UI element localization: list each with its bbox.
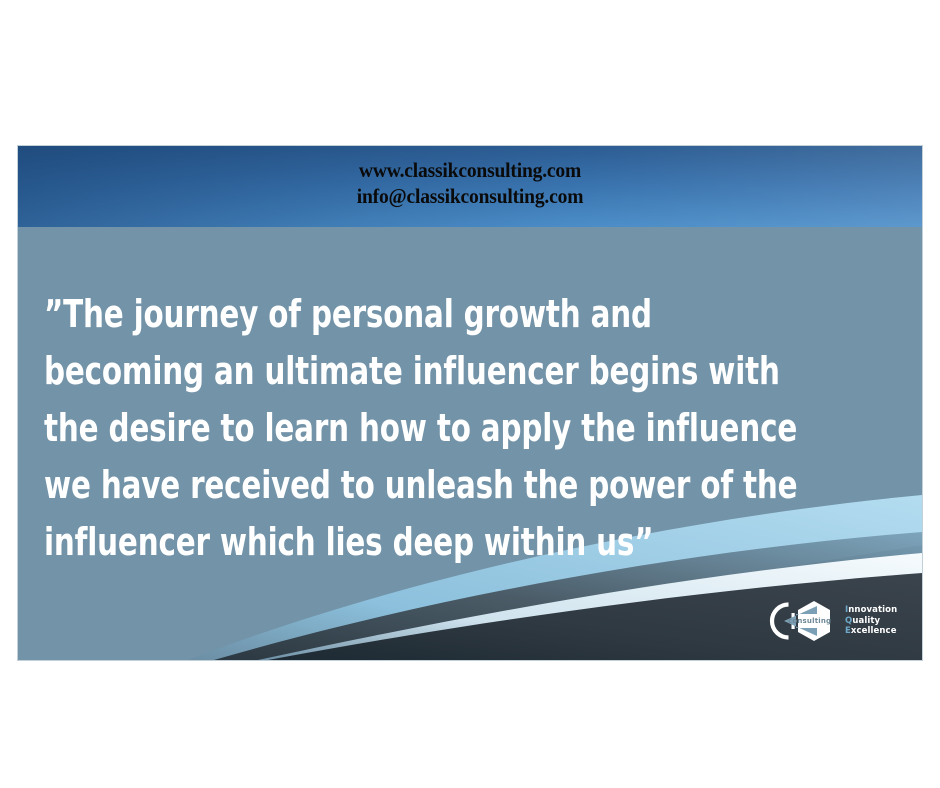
contact-header-text: www.classikconsulting.com info@classikco… — [18, 158, 922, 209]
quote-line-5: influencer which lies deep within us” — [44, 514, 741, 571]
classik-consulting-logo[interactable]: consulting Innovation Quality Excellence — [762, 593, 914, 649]
tagline-excellence-rest: xcellence — [851, 626, 897, 636]
tagline-innovation: Innovation — [845, 605, 897, 616]
quote-block: ”The journey of personal growth and beco… — [44, 286, 854, 571]
tagline-quality: Quality — [845, 616, 897, 627]
logo-tagline: Innovation Quality Excellence — [845, 605, 897, 638]
quote-line-1: ”The journey of personal growth and — [44, 286, 741, 343]
email-address[interactable]: info@classikconsulting.com — [50, 184, 891, 210]
quote-line-3: the desire to learn how to apply the inf… — [44, 400, 741, 457]
quote-line-2: becoming an ultimate influencer begins w… — [44, 343, 741, 400]
tagline-innovation-rest: nnovation — [848, 605, 897, 615]
quote-slide: www.classikconsulting.com info@classikco… — [18, 146, 922, 660]
slide-canvas: www.classikconsulting.com info@classikco… — [0, 0, 940, 788]
tagline-excellence: Excellence — [845, 626, 897, 637]
quote-line-4: we have received to unleash the power of… — [44, 457, 741, 514]
logo-consulting-word: consulting — [788, 617, 831, 625]
website-url[interactable]: www.classikconsulting.com — [50, 158, 891, 184]
ck-monogram-icon: consulting — [762, 595, 844, 647]
contact-header-banner: www.classikconsulting.com info@classikco… — [18, 146, 922, 227]
tagline-quality-rest: uality — [852, 616, 880, 626]
